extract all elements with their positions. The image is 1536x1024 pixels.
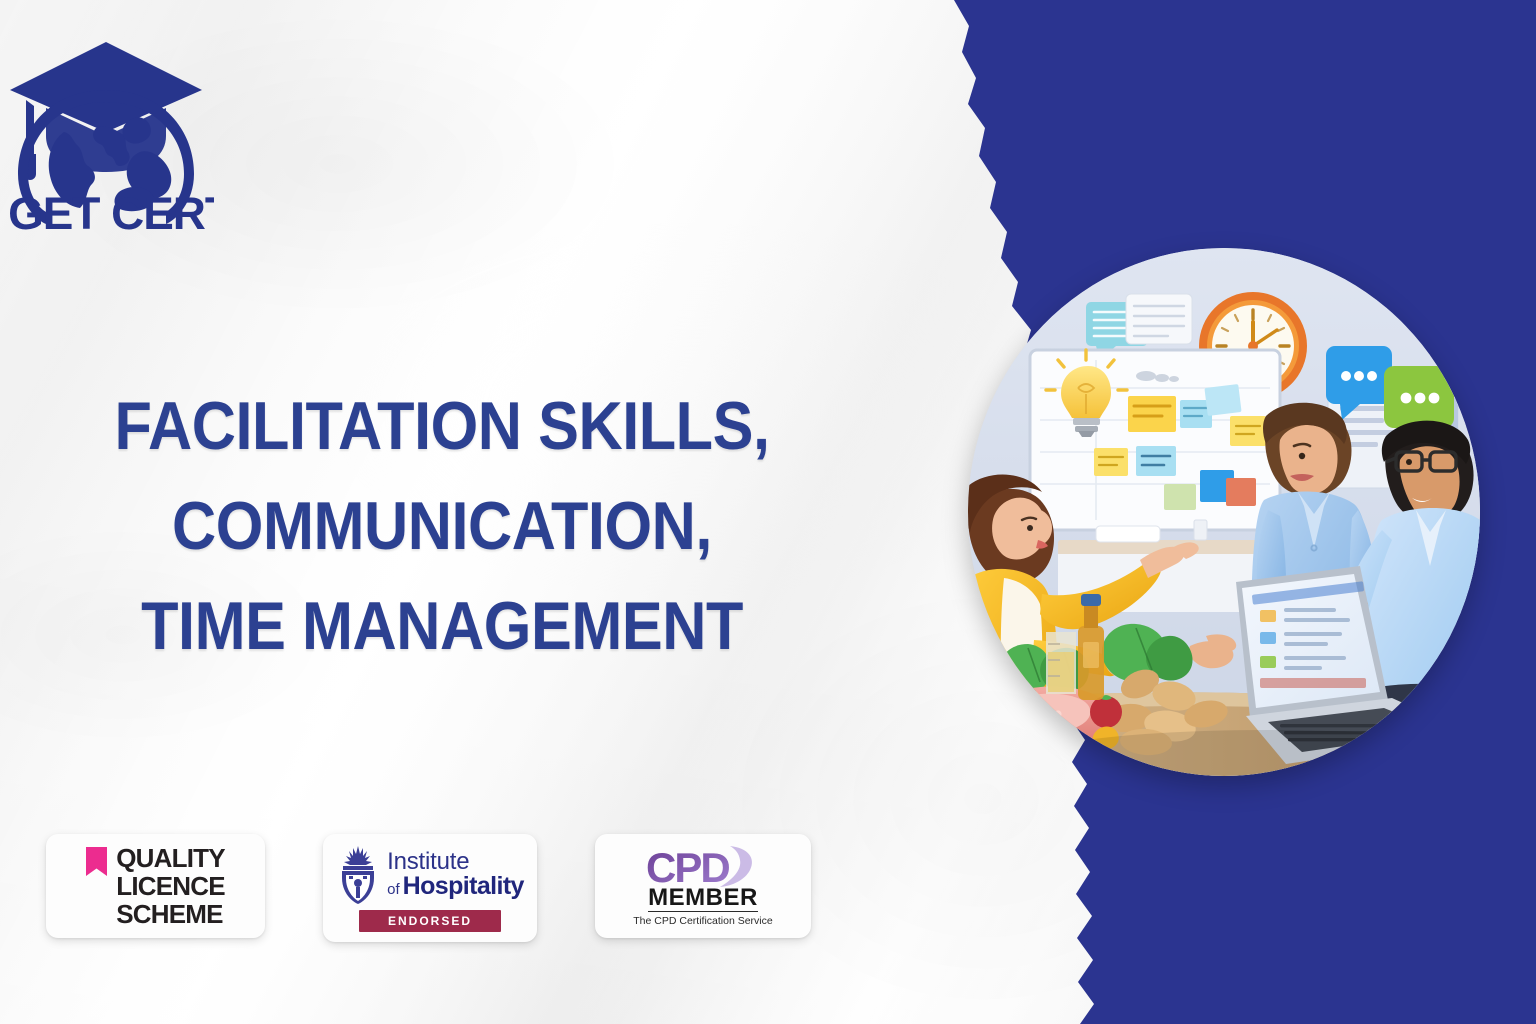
ioh-endorsed-banner: ENDORSED [359,910,501,932]
logo-wordmark: GET CERTIFY [8,188,214,234]
ioh-line-of: of [387,882,400,897]
cpd-logo-mark: CPD [644,844,762,890]
poster-canvas: GET CERTIFY FACILITATION SKILLS, COMMUNI… [0,0,1536,1024]
title-line-3: TIME MANAGEMENT [100,576,784,676]
whiteboard-with-sticky-notes [1030,350,1280,530]
qls-line-2: LICENCE [116,872,225,900]
hero-illustration [968,248,1480,776]
heraldic-crest-icon [336,845,380,905]
page-title: FACILITATION SKILLS, COMMUNICATION, TIME… [62,376,822,676]
cpd-subtitle: The CPD Certification Service [633,915,772,928]
qls-line-3: SCHEME [116,900,225,928]
badge-institute-of-hospitality[interactable]: Institute of Hospitality ENDORSED [323,834,537,942]
bookmark-ribbon-icon [86,847,107,876]
badge-quality-licence-scheme[interactable]: QUALITY LICENCE SCHEME [46,834,265,938]
ioh-line-hospitality: Hospitality [403,874,524,899]
measuring-jug [1046,632,1076,694]
title-line-2: COMMUNICATION, [100,476,784,576]
title-line-1: FACILITATION SKILLS, [100,376,784,476]
brand-logo[interactable]: GET CERTIFY [2,24,214,234]
ioh-line-institute: Institute [387,850,524,874]
badge-cpd-member[interactable]: CPD MEMBER The CPD Certification Service [595,834,811,938]
svg-text:CPD: CPD [646,844,729,890]
qls-line-1: QUALITY [116,844,225,872]
accreditation-badges: QUALITY LICENCE SCHEME [46,834,811,942]
